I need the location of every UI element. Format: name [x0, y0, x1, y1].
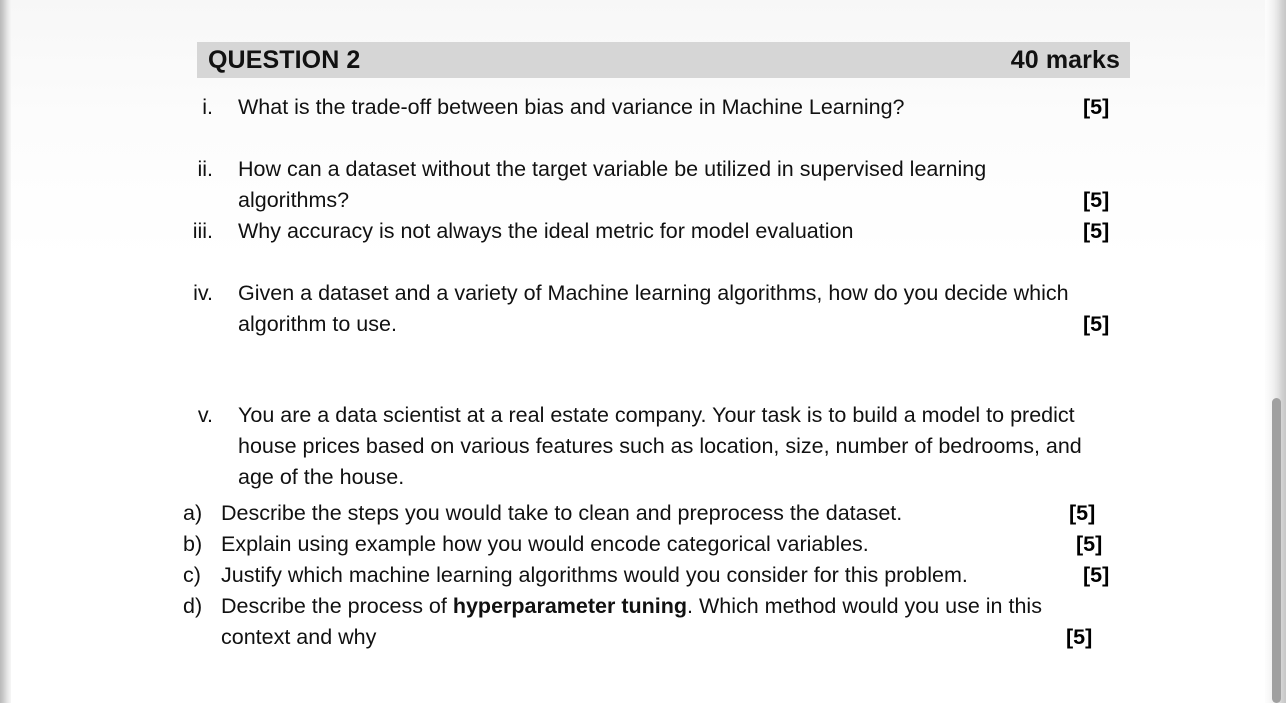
- question-item-iii: iii. Why accuracy is not always the idea…: [11, 216, 1265, 247]
- sub-question-text-d-emphasis: hyperparameter tuning: [453, 594, 687, 618]
- question-text-iv: Given a dataset and a variety of Machine…: [238, 281, 1069, 336]
- sub-question-body-d: Describe the process of hyperparameter t…: [221, 591, 1111, 653]
- sub-question-body-a: Describe the steps you would take to cle…: [221, 498, 1111, 529]
- question-item-iv: iv. Given a dataset and a variety of Mac…: [11, 278, 1265, 340]
- page-content: QUESTION 2 40 marks i. What is the trade…: [11, 0, 1265, 703]
- question-numeral-iv: iv.: [156, 278, 213, 309]
- question-list: i. What is the trade-off between bias an…: [11, 92, 1265, 653]
- question-text-v: You are a data scientist at a real estat…: [238, 403, 1082, 489]
- question-body-i: What is the trade-off between bias and v…: [238, 92, 1083, 123]
- question-item-i: i. What is the trade-off between bias an…: [11, 92, 1265, 123]
- sub-question-letter-d: d): [183, 591, 211, 622]
- question-item-v: v. You are a data scientist at a real es…: [11, 400, 1265, 493]
- document-page: QUESTION 2 40 marks i. What is the trade…: [11, 0, 1265, 703]
- question-marks-ii: [5]: [1083, 185, 1109, 216]
- sub-question-item-c: c) Justify which machine learning algori…: [11, 560, 1265, 591]
- scrollbar-thumb[interactable]: [1272, 398, 1281, 703]
- sub-question-item-b: b) Explain using example how you would e…: [11, 529, 1265, 560]
- sub-question-body-c: Justify which machine learning algorithm…: [221, 560, 1111, 591]
- question-total-marks: 40 marks: [1011, 48, 1120, 73]
- question-body-v: You are a data scientist at a real estat…: [238, 400, 1083, 493]
- sub-question-text-d-before: Describe the process of: [221, 594, 453, 618]
- sub-question-marks-d: [5]: [1066, 622, 1092, 653]
- sub-question-letter-a: a): [183, 498, 211, 529]
- question-numeral-iii: iii.: [156, 216, 213, 247]
- sub-question-text-a: Describe the steps you would take to cle…: [221, 501, 902, 525]
- sub-question-text-c: Justify which machine learning algorithm…: [221, 563, 968, 587]
- sub-question-marks-a: [5]: [1069, 498, 1095, 529]
- sub-question-letter-c: c): [183, 560, 211, 591]
- question-numeral-ii: ii.: [156, 154, 213, 185]
- question-body-iii: Why accuracy is not always the ideal met…: [238, 216, 1083, 247]
- question-item-ii: ii. How can a dataset without the target…: [11, 154, 1265, 216]
- spacer: [11, 247, 1265, 278]
- spacer: [11, 123, 1265, 154]
- question-title: QUESTION 2: [208, 48, 360, 73]
- question-marks-iii: [5]: [1083, 216, 1109, 247]
- question-numeral-v: v.: [156, 400, 213, 431]
- spacer: [11, 340, 1265, 400]
- question-text-ii: How can a dataset without the target var…: [238, 157, 986, 212]
- question-body-ii: How can a dataset without the target var…: [238, 154, 1083, 216]
- question-text-iii: Why accuracy is not always the ideal met…: [238, 219, 853, 243]
- sub-question-item-a: a) Describe the steps you would take to …: [11, 498, 1265, 529]
- sub-question-item-d: d) Describe the process of hyperparamete…: [11, 591, 1265, 653]
- sub-question-letter-b: b): [183, 529, 211, 560]
- sub-question-list: a) Describe the steps you would take to …: [11, 498, 1265, 653]
- sub-question-marks-c: [5]: [1083, 560, 1109, 591]
- question-text-i: What is the trade-off between bias and v…: [238, 95, 905, 119]
- document-viewer: QUESTION 2 40 marks i. What is the trade…: [0, 0, 1286, 703]
- question-numeral-i: i.: [156, 92, 213, 123]
- sub-question-body-b: Explain using example how you would enco…: [221, 529, 1111, 560]
- question-marks-iv: [5]: [1083, 309, 1109, 340]
- vertical-scrollbar[interactable]: [1271, 0, 1286, 703]
- sub-question-marks-b: [5]: [1076, 529, 1102, 560]
- question-marks-i: [5]: [1083, 92, 1109, 123]
- question-header-band: QUESTION 2 40 marks: [197, 42, 1130, 78]
- sub-question-text-b: Explain using example how you would enco…: [221, 532, 869, 556]
- question-body-iv: Given a dataset and a variety of Machine…: [238, 278, 1083, 340]
